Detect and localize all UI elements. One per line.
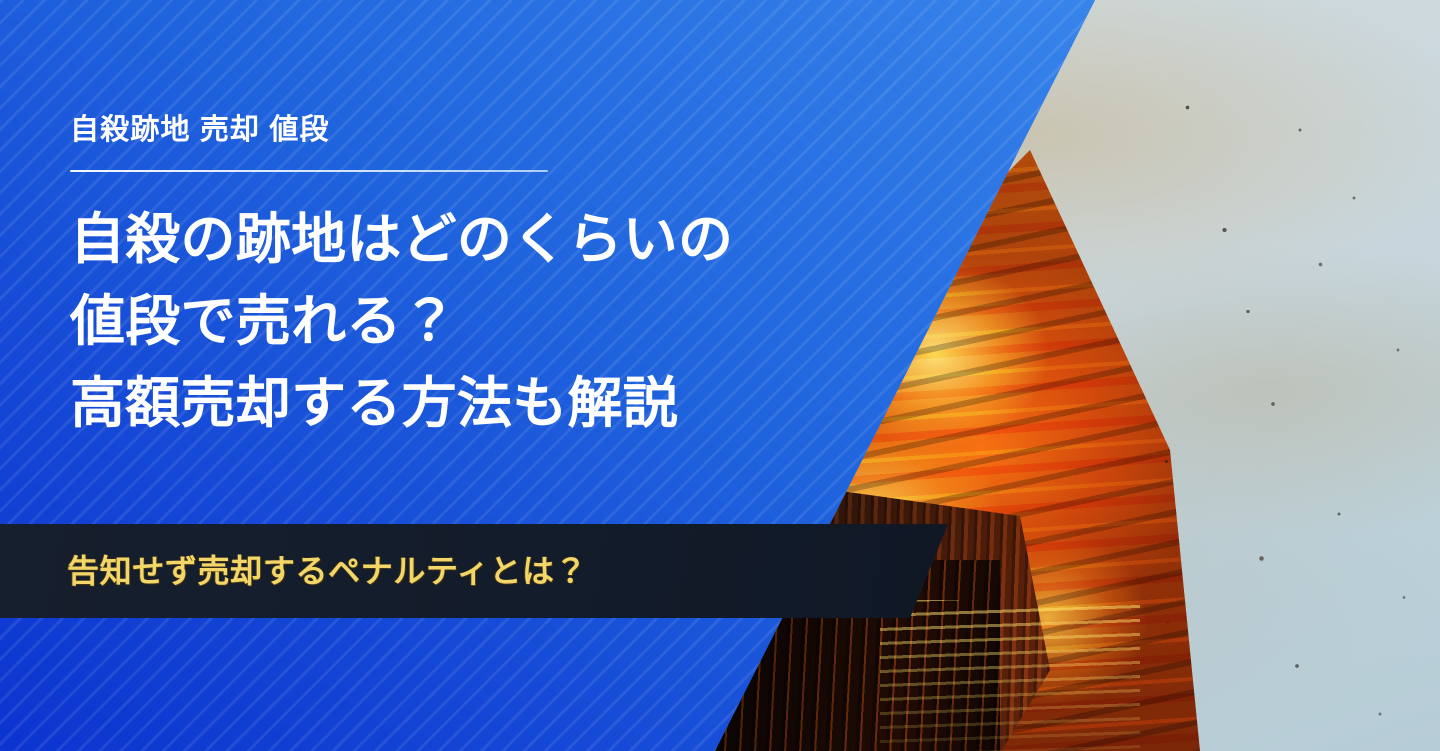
eyebrow-keywords: 自殺跡地 売却 値段: [70, 112, 890, 148]
headline-line-2: 値段で売れる？: [70, 280, 890, 362]
eyebrow-divider: [70, 170, 548, 172]
page-title: 自殺の跡地はどのくらいの 値段で売れる？ 高額売却する方法も解説: [70, 198, 890, 444]
headline-line-3: 高額売却する方法も解説: [70, 362, 890, 444]
hero-text-block: 自殺跡地 売却 値段 自殺の跡地はどのくらいの 値段で売れる？ 高額売却する方法…: [70, 112, 890, 444]
subtitle-ribbon: 告知せず売却するペナルティとは？: [0, 524, 948, 618]
hero-banner: 自殺跡地 売却 値段 自殺の跡地はどのくらいの 値段で売れる？ 高額売却する方法…: [0, 0, 1440, 751]
headline-line-1: 自殺の跡地はどのくらいの: [70, 198, 890, 280]
subtitle-text: 告知せず売却するペナルティとは？: [0, 552, 587, 590]
